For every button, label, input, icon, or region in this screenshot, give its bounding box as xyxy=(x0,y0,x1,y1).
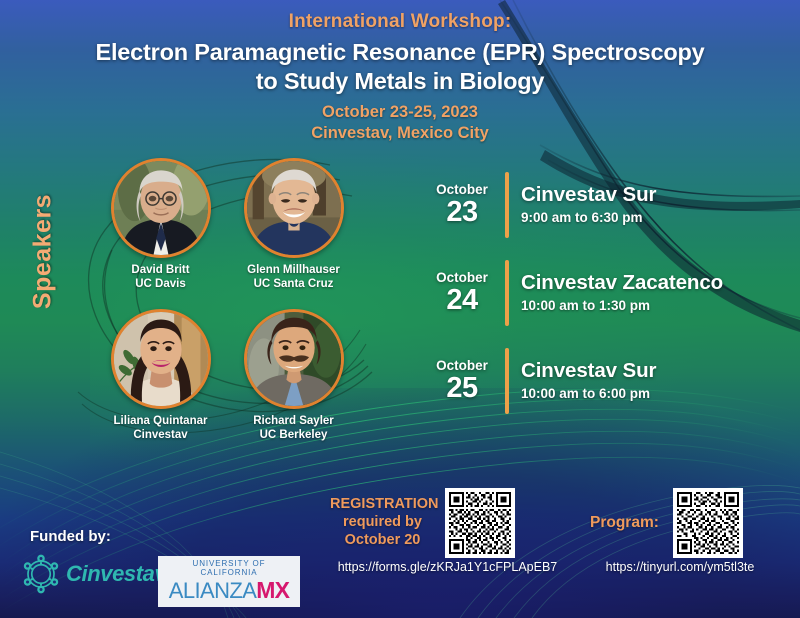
registration-url[interactable]: https://forms.gle/zKRJa1Y1cFPLApEB7 xyxy=(330,560,565,575)
schedule-details: Cinvestav Sur 10:00 am to 6:00 pm xyxy=(521,359,785,402)
speaker-photo xyxy=(111,158,211,258)
schedule-venue: Cinvestav Zacatenco xyxy=(521,271,785,295)
speaker-name: Liliana Quintanar xyxy=(102,414,219,428)
poster-header: International Workshop: Electron Paramag… xyxy=(0,10,800,145)
registration-heading-line2: required by xyxy=(330,514,435,532)
program-qr-code[interactable] xyxy=(673,488,743,558)
registration-heading: REGISTRATION required by October 20 xyxy=(330,496,435,550)
speaker-name: Glenn Millhauser xyxy=(235,263,352,277)
speakers-grid: David Britt UC Davis xyxy=(102,158,352,442)
qr-code-program-icon xyxy=(677,492,739,554)
schedule-time: 10:00 am to 6:00 pm xyxy=(521,385,785,403)
schedule-divider xyxy=(505,260,509,326)
schedule-date: October 23 xyxy=(425,183,499,226)
qr-code-registration-icon xyxy=(449,492,511,554)
registration-block: REGISTRATION required by October 20 xyxy=(330,488,515,558)
speaker-affiliation: UC Berkeley xyxy=(235,428,352,442)
speaker-photo xyxy=(244,158,344,258)
portrait-richard-sayler xyxy=(247,312,341,406)
speaker-card: Glenn Millhauser UC Santa Cruz xyxy=(235,158,352,291)
portrait-liliana-quintanar xyxy=(114,312,208,406)
speaker-photo xyxy=(111,309,211,409)
speaker-card: Richard Sayler UC Berkeley xyxy=(235,309,352,442)
speaker-photo xyxy=(244,309,344,409)
speaker-affiliation: Cinvestav xyxy=(102,428,219,442)
schedule-day: 25 xyxy=(425,374,499,403)
alianza-university-line: UNIVERSITY OF CALIFORNIA xyxy=(164,560,294,578)
schedule-day: 23 xyxy=(425,198,499,227)
poster-location: Cinvestav, Mexico City xyxy=(0,123,800,144)
portrait-glenn-millhauser xyxy=(247,161,341,255)
poster-dateline: October 23-25, 2023 Cinvestav, Mexico Ci… xyxy=(0,102,800,145)
poster-title-line2: to Study Metals in Biology xyxy=(0,67,800,96)
portrait-david-britt xyxy=(114,161,208,255)
schedule-details: Cinvestav Zacatenco 10:00 am to 1:30 pm xyxy=(521,271,785,314)
speakers-section-label: Speakers xyxy=(29,187,58,317)
schedule-day: 24 xyxy=(425,286,499,315)
program-block: Program: xyxy=(590,488,743,558)
speaker-card: David Britt UC Davis xyxy=(102,158,219,291)
registration-heading-line1: REGISTRATION xyxy=(330,496,435,514)
program-label: Program: xyxy=(590,514,659,532)
workshop-kicker: International Workshop: xyxy=(0,10,800,34)
program-url[interactable]: https://tinyurl.com/ym5tl3te xyxy=(580,560,780,575)
schedule-time: 9:00 am to 6:30 pm xyxy=(521,209,785,227)
speakers-row-bottom: Liliana Quintanar Cinvestav xyxy=(102,309,352,442)
speaker-name: David Britt xyxy=(102,263,219,277)
speaker-affiliation: UC Santa Cruz xyxy=(235,277,352,291)
alianza-wordmark: ALIANZAMX xyxy=(164,579,294,602)
cinvestav-wordmark: Cinvestav xyxy=(66,561,166,587)
schedule-divider xyxy=(505,348,509,414)
registration-qr-code[interactable] xyxy=(445,488,515,558)
schedule-venue: Cinvestav Sur xyxy=(521,359,785,383)
registration-heading-line3: October 20 xyxy=(330,532,435,550)
schedule-divider xyxy=(505,172,509,238)
cinvestav-logo: Cinvestav xyxy=(20,553,166,595)
schedule-time: 10:00 am to 1:30 pm xyxy=(521,297,785,315)
schedule-row: October 25 Cinvestav Sur 10:00 am to 6:0… xyxy=(425,344,785,418)
cinvestav-emblem-icon xyxy=(20,553,62,595)
schedule-list: October 23 Cinvestav Sur 9:00 am to 6:30… xyxy=(425,168,785,418)
alianza-word-main: ALIANZA xyxy=(169,578,257,603)
alianza-word-mx: MX xyxy=(256,577,289,603)
speakers-row-top: David Britt UC Davis xyxy=(102,158,352,291)
funded-by-label: Funded by: xyxy=(30,528,111,545)
schedule-row: October 24 Cinvestav Zacatenco 10:00 am … xyxy=(425,256,785,330)
schedule-date: October 24 xyxy=(425,271,499,314)
workshop-poster: International Workshop: Electron Paramag… xyxy=(0,0,800,618)
schedule-venue: Cinvestav Sur xyxy=(521,183,785,207)
poster-dates: October 23-25, 2023 xyxy=(0,102,800,123)
schedule-date: October 25 xyxy=(425,359,499,402)
schedule-row: October 23 Cinvestav Sur 9:00 am to 6:30… xyxy=(425,168,785,242)
poster-title: Electron Paramagnetic Resonance (EPR) Sp… xyxy=(0,38,800,96)
speaker-affiliation: UC Davis xyxy=(102,277,219,291)
speaker-name: Richard Sayler xyxy=(235,414,352,428)
schedule-details: Cinvestav Sur 9:00 am to 6:30 pm xyxy=(521,183,785,226)
speaker-card: Liliana Quintanar Cinvestav xyxy=(102,309,219,442)
poster-title-line1: Electron Paramagnetic Resonance (EPR) Sp… xyxy=(0,38,800,67)
alianza-mx-logo: UNIVERSITY OF CALIFORNIA ALIANZAMX xyxy=(158,556,300,607)
